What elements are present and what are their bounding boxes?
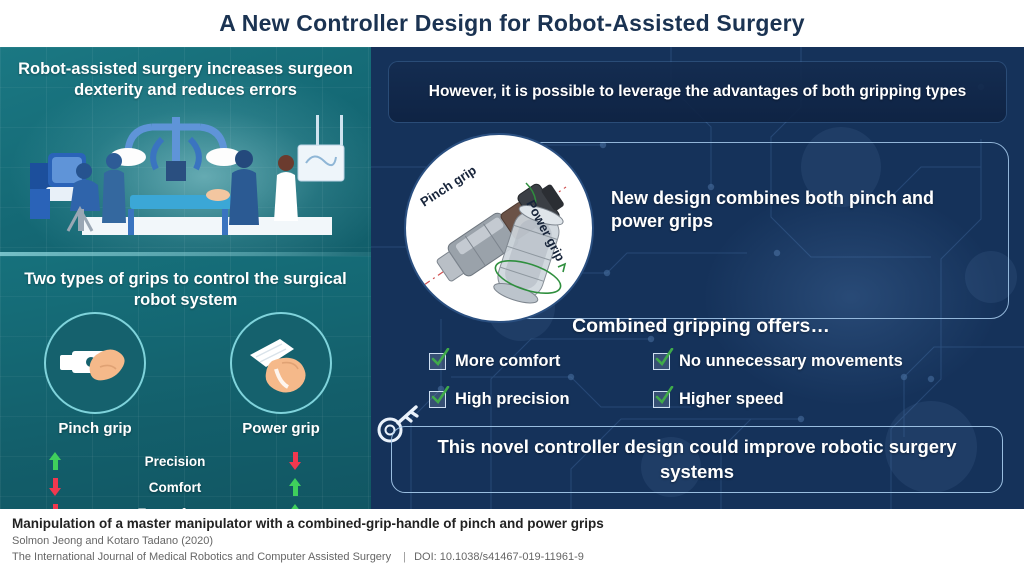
page-title: A New Controller Design for Robot-Assist…	[219, 10, 805, 37]
benefit-label: No unnecessary movements	[679, 352, 903, 371]
pinch-grip-icon	[44, 312, 146, 414]
table-row: Ease of use	[0, 500, 371, 509]
power-grip-label: Power grip	[230, 420, 332, 437]
grip-comparison-table: Precision Comfort Ease of use	[0, 448, 371, 509]
checkbox-icon	[429, 391, 446, 408]
table-row: Comfort	[0, 474, 371, 500]
conclusion-text: This novel controller design could impro…	[392, 435, 1002, 483]
power-grip-icon	[230, 312, 332, 414]
page-header: A New Controller Design for Robot-Assist…	[0, 0, 1024, 47]
paper-title: Manipulation of a master manipulator wit…	[12, 516, 604, 531]
pinch-grip-photo-label: Pinch grip	[417, 162, 479, 209]
grips-heading: Two types of grips to control the surgic…	[0, 269, 371, 311]
paper-authors: Solmon Jeong and Kotaro Tadano (2020)	[12, 535, 213, 547]
journal-name: The International Journal of Medical Rob…	[12, 551, 391, 563]
list-item: More comfort	[429, 352, 560, 371]
attribute-label: Precision	[110, 454, 240, 469]
table-row: Precision	[0, 448, 371, 474]
doi-separator: |	[394, 551, 411, 563]
pinch-grip-label: Pinch grip	[44, 420, 146, 437]
paper-doi: DOI: 10.1038/s41467-019-11961-9	[414, 551, 584, 563]
however-banner: However, it is possible to leverage the …	[389, 62, 1006, 122]
checkbox-icon	[653, 391, 670, 408]
pinch-grip-item: Pinch grip	[44, 312, 146, 414]
left-bottom-section: Two types of grips to control the surgic…	[0, 256, 371, 509]
left-top-section: Robot-assisted surgery increases surgeon…	[0, 47, 371, 256]
footer: Manipulation of a master manipulator wit…	[0, 509, 1024, 576]
attribute-label: Comfort	[110, 480, 240, 495]
controller-device-image: Pinch grip Power grip	[406, 135, 594, 323]
benefit-label: Higher speed	[679, 390, 784, 409]
list-item: No unnecessary movements	[653, 352, 903, 371]
device-photo-circle: Pinch grip Power grip	[404, 133, 594, 323]
paper-journal-line: The International Journal of Medical Rob…	[12, 551, 584, 563]
operating-room-illustration	[22, 99, 352, 247]
offers-title: Combined gripping offers…	[401, 315, 1001, 338]
new-design-text: New design combines both pinch and power…	[611, 187, 961, 234]
checkbox-icon	[429, 353, 446, 370]
power-comfort-arrow	[240, 478, 350, 496]
power-grip-item: Power grip	[230, 312, 332, 414]
pinch-precision-arrow	[0, 452, 110, 470]
grip-icons-row: Pinch grip Power grip	[0, 312, 371, 432]
benefit-label: More comfort	[455, 352, 560, 371]
pinch-comfort-arrow	[0, 478, 110, 496]
list-item: High precision	[429, 390, 570, 409]
conclusion-box: This novel controller design could impro…	[391, 426, 1003, 493]
however-banner-text: However, it is possible to leverage the …	[405, 82, 990, 102]
list-item: Higher speed	[653, 390, 784, 409]
infographic-page: A New Controller Design for Robot-Assist…	[0, 0, 1024, 576]
section-divider	[0, 252, 371, 256]
checkbox-icon	[653, 353, 670, 370]
right-panel: However, it is possible to leverage the …	[371, 47, 1024, 509]
left-top-heading: Robot-assisted surgery increases surgeon…	[0, 59, 371, 101]
benefit-label: High precision	[455, 390, 570, 409]
power-precision-arrow	[240, 452, 350, 470]
left-panel: Robot-assisted surgery increases surgeon…	[0, 47, 371, 509]
